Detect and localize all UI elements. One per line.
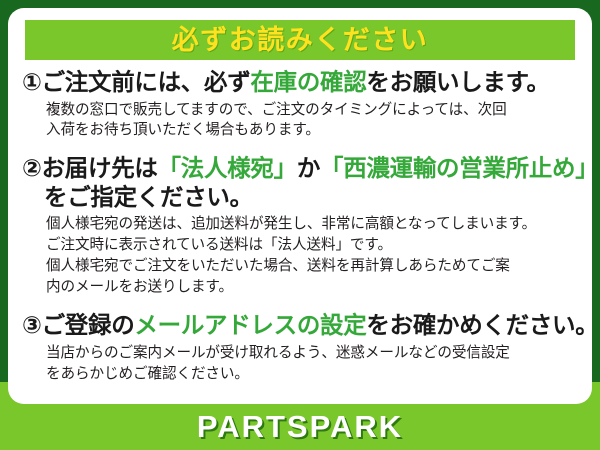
notice-heading-2-line2: をご指定ください。: [22, 183, 580, 212]
heading-1-part-0: ご注文前には、必ず: [42, 69, 251, 95]
notice-heading-2: ②お届け先は「法人様宛」か「西濃運輸の営業所止め」: [22, 154, 580, 183]
marker-2: ②: [22, 155, 42, 181]
marker-1: ①: [22, 69, 42, 95]
marker-3: ③: [22, 312, 42, 338]
note-1-line-2: 入荷をお待ち頂いただく場合もあります。: [46, 120, 580, 141]
notice-heading-3: ③ご登録のメールアドレスの設定をお確かめください。: [22, 311, 580, 340]
note-2-line-3: 個人様宅宛でご注文をいただいた場合、送料を再計算しあらためてご案: [46, 256, 580, 277]
note-2-line-1: 個人様宅宛の発送は、追加送料が発生し、非常に高額となってしまいます。: [46, 214, 580, 235]
notice-note-3: 当店からのご案内メールが受け取れるよう、迷惑メールなどの受信設定 をあらかじめご…: [22, 343, 580, 384]
heading-1-highlight: 在庫の確認: [250, 69, 366, 95]
heading-3-highlight: メールアドレスの設定: [134, 312, 366, 338]
heading-3-part-2: をお確かめください。: [366, 312, 592, 338]
notice-item-2: ②お届け先は「法人様宛」か「西濃運輸の営業所止め」 をご指定ください。 個人様宅…: [8, 154, 592, 297]
heading-2-highlight-2: 「西濃運輸の営業所止め」: [320, 155, 592, 181]
notice-note-1: 複数の窓口で販売してますので、ご注文のタイミングによっては、次回 入荷をお待ち頂…: [22, 100, 580, 141]
brand-logo: PARTSPARK: [197, 409, 403, 445]
note-2-line-4: 内のメールをお送りします。: [46, 277, 580, 298]
banner-title: 必ずお読みください: [172, 27, 429, 54]
note-2-line-2: ご注文時に表示されている送料は「法人送料」です。: [46, 235, 580, 256]
note-3-line-1: 当店からのご案内メールが受け取れるよう、迷惑メールなどの受信設定: [46, 343, 580, 364]
footer-logo-area: PARTSPARK: [0, 404, 600, 450]
white-content-panel: 必ずお読みください ①ご注文前には、必ず在庫の確認をお願いします。 複数の窓口で…: [8, 8, 592, 404]
heading-2-line2-text: をご指定ください。: [22, 183, 253, 212]
notice-item-3: ③ご登録のメールアドレスの設定をお確かめください。 当店からのご案内メールが受け…: [8, 311, 592, 384]
heading-2-part-0: お届け先は: [42, 155, 158, 181]
heading-2-part-2: か: [297, 155, 320, 181]
notice-item-1: ①ご注文前には、必ず在庫の確認をお願いします。 複数の窓口で販売してますので、ご…: [8, 68, 592, 141]
heading-2-highlight-1: 「法人様宛」: [158, 155, 297, 181]
notice-sections: ①ご注文前には、必ず在庫の確認をお願いします。 複数の窓口で販売してますので、ご…: [8, 68, 592, 384]
notice-heading-1: ①ご注文前には、必ず在庫の確認をお願いします。: [22, 68, 580, 97]
note-1-line-1: 複数の窓口で販売してますので、ご注文のタイミングによっては、次回: [46, 100, 580, 121]
notice-note-2: 個人様宅宛の発送は、追加送料が発生し、非常に高額となってしまいます。 ご注文時に…: [22, 214, 580, 297]
heading-1-part-2: をお願いします。: [366, 69, 549, 95]
title-bar: 必ずお読みください: [25, 20, 575, 60]
note-3-line-2: をあらかじめご確認ください。: [46, 364, 580, 385]
notice-banner: 必ずお読みください ①ご注文前には、必ず在庫の確認をお願いします。 複数の窓口で…: [0, 0, 600, 450]
heading-3-part-0: ご登録の: [42, 312, 135, 338]
